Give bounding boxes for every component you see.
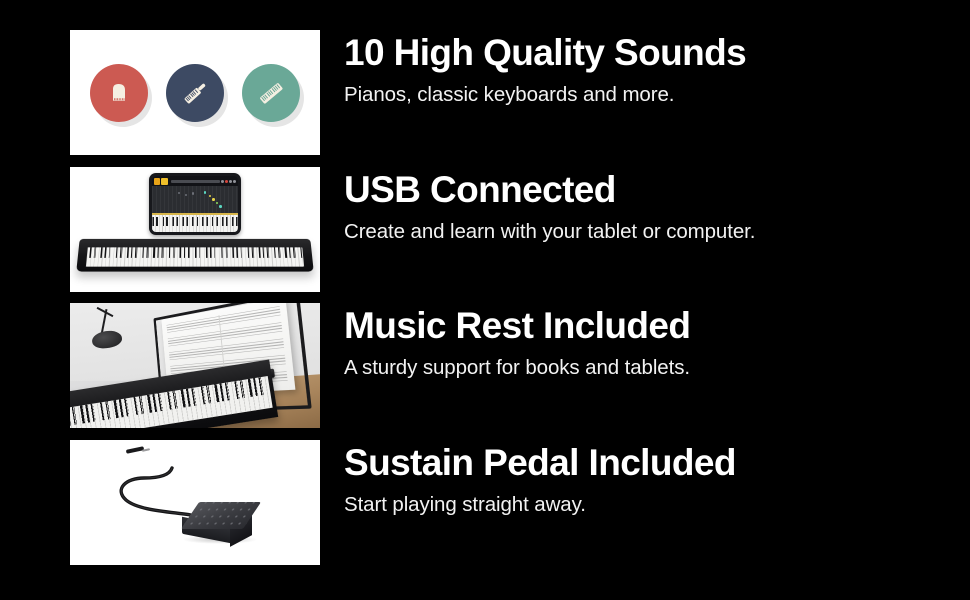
feature-subline: Start playing straight away.: [344, 495, 970, 516]
feature-headline: Sustain Pedal Included: [344, 444, 970, 481]
usb-scene: [70, 167, 320, 292]
feature-row-pedal: Sustain Pedal Included Start playing str…: [0, 440, 970, 576]
toolbar-label: [171, 180, 220, 183]
feature-image-sounds: [70, 30, 320, 155]
feature-copy-sounds: 10 High Quality Sounds Pianos, classic k…: [344, 30, 970, 106]
keyboard-keys: [70, 376, 273, 428]
feature-banner: 10 High Quality Sounds Pianos, classic k…: [0, 0, 970, 600]
note-marker: [216, 202, 219, 205]
sound-icon-group: [70, 30, 320, 155]
feature-copy-music-rest: Music Rest Included A sturdy support for…: [344, 303, 970, 379]
feature-subline: A sturdy support for books and tablets.: [344, 358, 970, 379]
note-marker: [212, 198, 215, 201]
toolbar-dot: [233, 180, 236, 183]
tablet-screen: [152, 176, 238, 232]
feature-image-music-rest: [70, 303, 320, 428]
toolbar-button-orange: [154, 178, 160, 185]
toolbar-dot: [229, 180, 232, 183]
note-marker: [185, 194, 188, 197]
jack-tip: [142, 448, 150, 452]
keyboard-icon: [242, 64, 300, 122]
tablet-toolbar: [152, 176, 238, 186]
feature-headline: Music Rest Included: [344, 307, 970, 344]
tablet-device: [149, 173, 241, 235]
pedal-scene: [70, 440, 320, 565]
feature-row-sounds: 10 High Quality Sounds Pianos, classic k…: [0, 30, 970, 166]
feature-copy-pedal: Sustain Pedal Included Start playing str…: [344, 440, 970, 516]
feature-subline: Pianos, classic keyboards and more.: [344, 85, 970, 106]
feature-headline: USB Connected: [344, 171, 970, 208]
note-marker: [204, 191, 207, 194]
feature-subline: Create and learn with your tablet or com…: [344, 222, 970, 243]
tablet-keyboard-strip: [152, 213, 238, 232]
toolbar-button-yellow: [161, 178, 168, 185]
feature-image-pedal: [70, 440, 320, 565]
toolbar-dot: [221, 180, 224, 183]
piano-keys: [86, 247, 304, 266]
feature-copy-usb: USB Connected Create and learn with your…: [344, 167, 970, 243]
note-marker: [209, 195, 212, 198]
record-dot: [225, 180, 228, 183]
piano-roll-grid: [152, 186, 238, 215]
grand-piano-icon: [90, 64, 148, 122]
note-marker: [219, 205, 222, 208]
digital-piano: [76, 239, 313, 272]
feature-headline: 10 High Quality Sounds: [344, 34, 970, 71]
feature-row-usb: USB Connected Create and learn with your…: [0, 167, 970, 303]
keytar-icon: [166, 64, 224, 122]
feature-image-usb: [70, 167, 320, 292]
note-marker: [178, 192, 181, 195]
music-rest-scene: [70, 303, 320, 428]
note-marker: [192, 192, 195, 195]
feature-row-music-rest: Music Rest Included A sturdy support for…: [0, 303, 970, 439]
